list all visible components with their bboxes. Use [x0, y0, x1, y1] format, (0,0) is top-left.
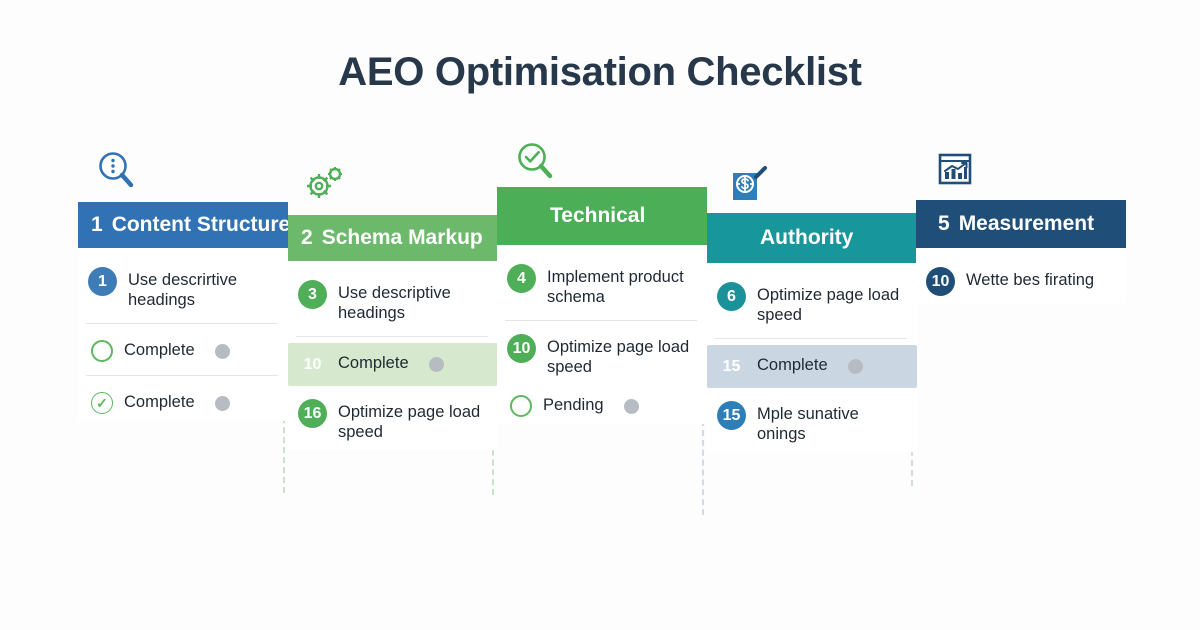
column-header-authority[interactable]: Authority — [707, 213, 917, 263]
status-dot-icon — [429, 357, 444, 372]
row-label: Optimize page load speed — [757, 282, 909, 325]
row-badge: 3 — [298, 280, 327, 309]
status-dot-icon — [215, 344, 230, 359]
column-title: Technical — [550, 204, 645, 228]
checklist-row[interactable]: 10 Wette bes firating — [916, 260, 1126, 303]
row-label: Use descriptive headings — [338, 280, 490, 323]
row-label: Use descrirtive headings — [128, 267, 280, 310]
row-badge: 16 — [298, 399, 327, 428]
column-body-schema-markup: 3 Use descriptive headings 10 Complete 1… — [288, 261, 498, 450]
check-circle-icon: ✓ — [91, 392, 113, 414]
row-badge: 4 — [507, 264, 536, 293]
checklist-row[interactable]: 15 Mple sunative onings — [707, 394, 917, 451]
row-label: Mple sunative onings — [757, 401, 909, 444]
row-label: Complete — [338, 350, 409, 373]
column-header-measurement[interactable]: 5 Measurement — [916, 200, 1126, 248]
checklist-row[interactable]: Pending — [497, 385, 707, 424]
row-label: Complete — [124, 337, 195, 360]
checklist-row-highlighted[interactable]: 15 Complete — [707, 345, 917, 388]
column-title: Authority — [760, 226, 853, 250]
checklist-row[interactable]: 3 Use descriptive headings — [288, 273, 498, 330]
row-badge: 15 — [717, 401, 746, 430]
checklist-row[interactable]: 6 Optimize page load speed — [707, 275, 917, 332]
infographic-canvas: AEO Optimisation Checklist 1 Content Str… — [0, 0, 1200, 630]
column-title: Schema Markup — [322, 226, 483, 250]
row-label: Complete — [757, 352, 828, 375]
checklist-row[interactable]: 16 Optimize page load speed — [288, 392, 498, 449]
price-tag-dollar-icon — [723, 163, 769, 209]
checklist-row[interactable]: ✓ Complete — [78, 382, 288, 421]
status-dot-icon — [215, 396, 230, 411]
bar-chart-icon — [932, 148, 978, 194]
gears-icon — [302, 163, 348, 209]
status-dot-icon — [624, 399, 639, 414]
row-divider — [86, 375, 278, 376]
column-measurement[interactable]: 5 Measurement 10 Wette bes firating — [916, 200, 1126, 303]
page-title: AEO Optimisation Checklist — [0, 50, 1200, 95]
column-header-content-structure[interactable]: 1 Content Structure — [78, 202, 288, 248]
row-badge: 1 — [88, 267, 117, 296]
column-number: 5 — [938, 212, 950, 236]
row-badge: 10 — [507, 334, 536, 363]
magnifier-check-icon — [513, 139, 559, 185]
column-number: 2 — [301, 226, 313, 250]
column-body-measurement: 10 Wette bes firating — [916, 248, 1126, 303]
row-divider — [505, 320, 697, 321]
row-label: Complete — [124, 389, 195, 412]
row-label: Wette bes firating — [966, 267, 1094, 290]
row-badge: 10 — [926, 267, 955, 296]
row-divider — [715, 338, 907, 339]
row-divider — [86, 323, 278, 324]
column-header-technical[interactable]: Technical — [497, 187, 707, 245]
checklist-row[interactable]: Complete — [78, 330, 288, 369]
column-header-schema-markup[interactable]: 2 Schema Markup — [288, 215, 498, 261]
row-label: Optimize page load speed — [547, 334, 699, 377]
row-badge: 15 — [717, 352, 746, 381]
row-label: Pending — [543, 392, 604, 415]
column-body-authority: 6 Optimize page load speed 15 Complete 1… — [707, 263, 917, 452]
column-number: 1 — [91, 213, 103, 237]
column-title: Measurement — [959, 212, 1094, 236]
row-badge: 6 — [717, 282, 746, 311]
row-label: Optimize page load speed — [338, 399, 490, 442]
status-circle-icon — [510, 395, 532, 417]
column-technical[interactable]: Technical 4 Implement product schema 10 … — [497, 187, 707, 424]
status-dot-icon — [848, 359, 863, 374]
column-body-technical: 4 Implement product schema 10 Optimize p… — [497, 245, 707, 424]
row-divider — [296, 336, 488, 337]
checklist-row[interactable]: 1 Use descrirtive headings — [78, 260, 288, 317]
checklist-row[interactable]: 4 Implement product schema — [497, 257, 707, 314]
column-content-structure[interactable]: 1 Content Structure 1 Use descrirtive he… — [78, 202, 288, 421]
row-badge: 10 — [298, 350, 327, 379]
column-schema-markup[interactable]: 2 Schema Markup 3 Use descriptive headin… — [288, 215, 498, 450]
magnifier-dots-icon — [94, 148, 140, 194]
column-authority[interactable]: Authority 6 Optimize page load speed 15 … — [707, 213, 917, 452]
column-body-content-structure: 1 Use descrirtive headings Complete ✓ Co… — [78, 248, 288, 421]
row-label: Implement product schema — [547, 264, 699, 307]
column-title: Content Structure — [112, 213, 291, 237]
status-circle-icon — [91, 340, 113, 362]
checklist-row-highlighted[interactable]: 10 Complete — [288, 343, 498, 386]
checklist-row[interactable]: 10 Optimize page load speed — [497, 327, 707, 384]
